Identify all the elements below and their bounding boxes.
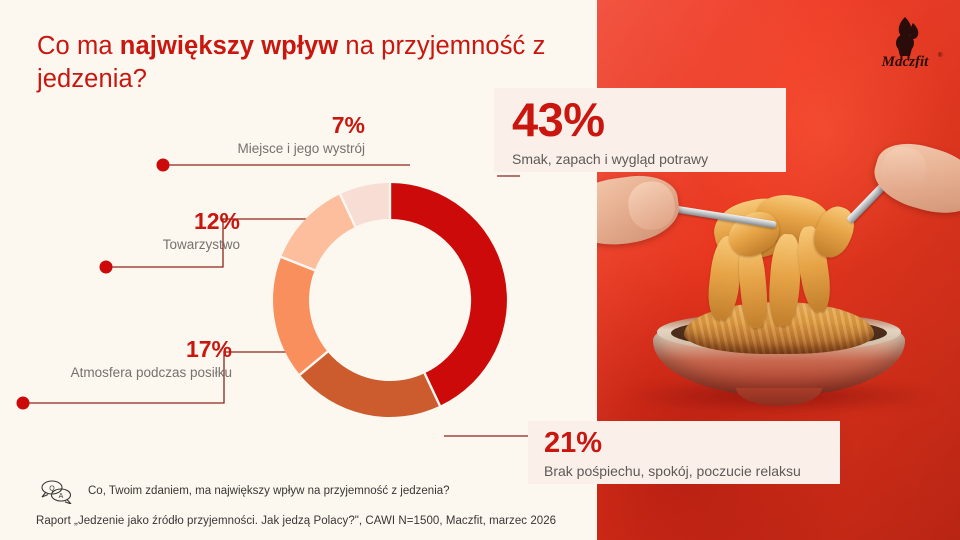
label-pct: 7% [60,114,365,137]
maczfit-logo[interactable]: Maczfit ® [864,12,946,68]
callout-text: Smak, zapach i wygląd potrawy [512,151,786,167]
callout-segment-21: 21% Brak pośpiechu, spokój, poczucie rel… [528,421,840,484]
callout-pct: 43% [512,96,786,144]
footer: Q A Co, Twoim zdaniem, ma największy wpł… [36,478,576,527]
svg-text:Q: Q [49,486,55,493]
page-title: Co ma największy wpływ na przyjemność z … [37,30,582,96]
svg-text:®: ® [938,52,943,59]
footer-source: Raport „Jedzenie jako źródło przyjemnośc… [36,515,576,527]
svg-text:A: A [59,493,64,500]
donut-slice-43 [390,183,507,406]
callout-text: Brak pośpiechu, spokój, poczucie relaksu [544,463,840,479]
bowl-foot [736,388,822,406]
label-pct: 17% [10,338,232,361]
label-segment-17: 17% Atmosfera podczas posiłku [10,338,232,382]
label-text: Miejsce i jego wystrój [60,141,365,158]
qa-speech-bubbles-icon: Q A [36,478,78,504]
footer-question: Co, Twoim zdaniem, ma największy wpływ n… [88,485,450,497]
title-part-1: Co ma [37,32,120,60]
title-emphasis: największy wpływ [120,32,338,60]
donut-chart [265,158,515,443]
label-segment-12: 12% Towarzystwo [40,210,240,254]
callout-segment-43: 43% Smak, zapach i wygląd potrawy [494,88,786,172]
donut-slice-21 [300,352,440,417]
logo-wordmark: Maczfit [881,54,929,68]
label-text: Towarzystwo [40,237,240,254]
label-pct: 12% [40,210,240,233]
callout-pct: 21% [544,428,840,458]
label-segment-7: 7% Miejsce i jego wystrój [60,114,365,158]
infographic-canvas: Maczfit ® Co ma największy wpływ na przy… [0,0,960,540]
label-text: Atmosfera podczas posiłku [10,365,232,382]
